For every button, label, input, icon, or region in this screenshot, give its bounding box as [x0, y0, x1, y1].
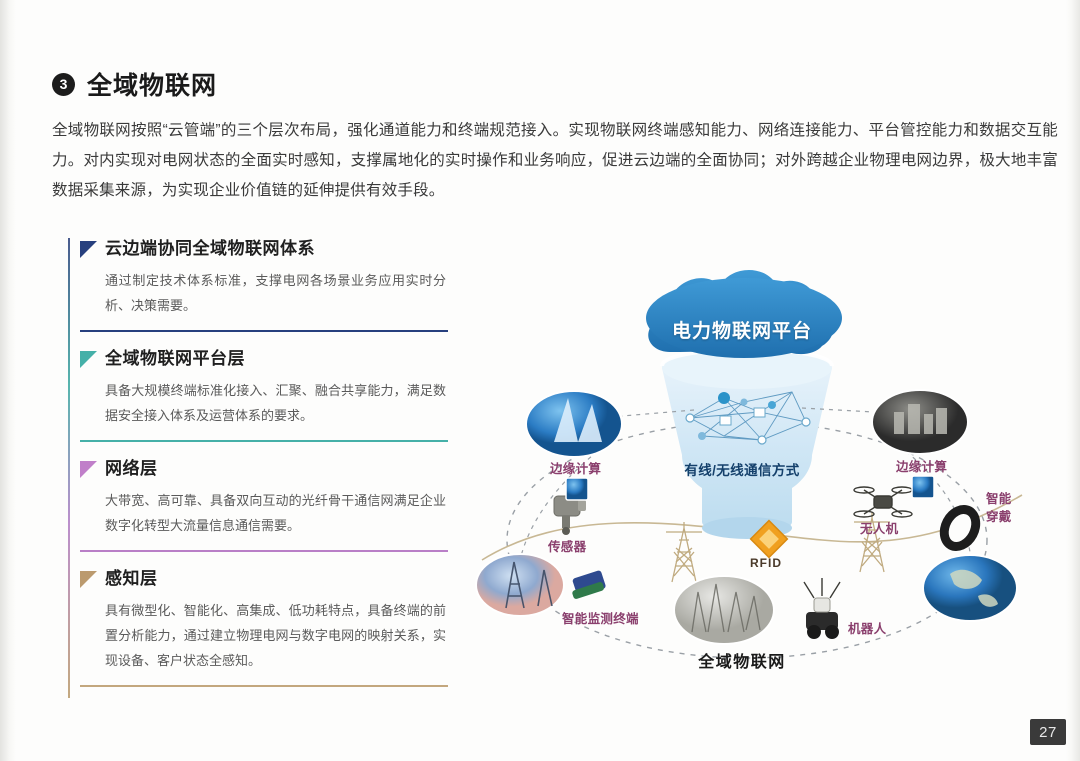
page-heading: 3 全域物联网: [52, 66, 217, 102]
layer-header: 全域物联网平台层: [80, 348, 448, 369]
triangle-marker-icon: [80, 241, 97, 258]
layer-list: 云边端协同全域物联网体系 通过制定技术体系标准，支撑电网各场景业务应用实时分析、…: [68, 238, 448, 698]
layer-header: 云边端协同全域物联网体系: [80, 238, 448, 259]
sensor-icon: [554, 496, 586, 535]
layer-divider: [80, 550, 448, 552]
edge-compute-thumb-right: [912, 476, 934, 498]
section-number-badge: 3: [52, 73, 75, 96]
node-label-drone: 无人机: [860, 518, 898, 537]
edge-compute-thumb-left: [566, 478, 588, 500]
layer-divider: [80, 685, 448, 687]
node-label-robot: 机器人: [848, 618, 886, 637]
layer-title: 感知层: [105, 568, 158, 589]
layer-item: 全域物联网平台层 具备大规模终端标准化接入、汇聚、融合共享能力，满足数据安全接入…: [80, 348, 448, 442]
layer-header: 网络层: [80, 458, 448, 479]
layer-description: 具有微型化、智能化、高集成、低功耗特点，具备终端的前置分析能力，通过建立物理电网…: [80, 598, 448, 673]
diagram-caption: 全域物联网: [642, 648, 842, 672]
layer-item: 云边端协同全域物联网体系 通过制定技术体系标准，支撑电网各场景业务应用实时分析、…: [80, 238, 448, 332]
page-edge-right: [1066, 0, 1080, 761]
edge-compute-photo-left: [526, 391, 622, 457]
smart-monitor-terminal-icon: [572, 570, 607, 600]
node-label-edge-compute-left: 边缘计算: [550, 458, 601, 477]
triangle-marker-icon: [80, 351, 97, 368]
node-label-edge-compute-right: 边缘计算: [896, 456, 947, 475]
cloud-shape: [646, 270, 842, 358]
drone-icon: [854, 487, 912, 517]
layer-description: 具备大规模终端标准化接入、汇聚、融合共享能力，满足数据安全接入体系及运营体系的要…: [80, 378, 448, 428]
triangle-marker-icon: [80, 571, 97, 588]
triangle-marker-icon: [80, 461, 97, 478]
layer-description: 通过制定技术体系标准，支撑电网各场景业务应用实时分析、决策需要。: [80, 268, 448, 318]
layer-title: 网络层: [105, 458, 158, 479]
node-label-sensor: 传感器: [548, 536, 586, 555]
layer-header: 感知层: [80, 568, 448, 589]
iot-architecture-diagram: 电力物联网平台 有线/无线通信方式 边缘计算 边缘计算 传感器 RFID 无人机…: [462, 240, 1062, 695]
communication-mode-label: 有线/无线通信方式: [652, 459, 832, 479]
city-photo-bottom: [674, 576, 774, 644]
cloud-platform-label: 电力物联网平台: [647, 316, 837, 343]
page-title: 全域物联网: [87, 66, 217, 102]
node-label-smart-monitor-terminal: 智能监测终端: [562, 608, 639, 627]
layer-divider: [80, 330, 448, 332]
robot-icon: [804, 578, 840, 639]
layer-title: 全域物联网平台层: [105, 348, 245, 369]
page-number-badge: 27: [1030, 719, 1066, 745]
layer-divider: [80, 440, 448, 442]
layer-item: 网络层 大带宽、高可靠、具备双向互动的光纤骨干通信网满足企业数字化转型大流量信息…: [80, 458, 448, 552]
transmission-tower-icon: [666, 522, 702, 582]
tower-photo-left: [476, 554, 564, 616]
page-edge-left: [0, 0, 16, 761]
node-label-smart-wearable: 智能穿戴: [986, 490, 1022, 526]
node-label-rfid: RFID: [750, 556, 782, 570]
smart-wearable-icon: [932, 498, 988, 558]
layer-title: 云边端协同全域物联网体系: [105, 238, 315, 259]
intro-paragraph: 全域物联网按照“云管端”的三个层次布局，强化通道能力和终端规范接入。实现物联网终…: [52, 116, 1058, 206]
document-page: 3 全域物联网 全域物联网按照“云管端”的三个层次布局，强化通道能力和终端规范接…: [0, 0, 1080, 761]
layer-description: 大带宽、高可靠、具备双向互动的光纤骨干通信网满足企业数字化转型大流量信息通信需要…: [80, 488, 448, 538]
layer-item: 感知层 具有微型化、智能化、高集成、低功耗特点，具备终端的前置分析能力，通过建立…: [80, 568, 448, 687]
